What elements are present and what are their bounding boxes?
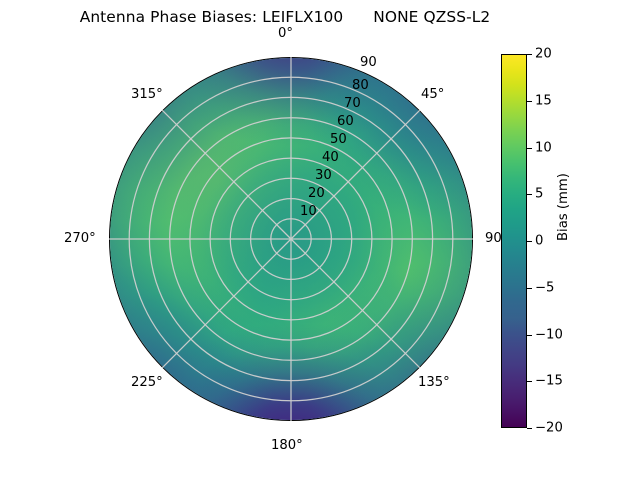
radial-tick-80: 80: [352, 78, 369, 93]
colorbar-tick-mark: [527, 381, 532, 382]
page-title: Antenna Phase Biases: LEIFLX100 NONE QZS…: [0, 8, 570, 26]
angular-tick-45: 45°: [421, 87, 444, 102]
angular-tick-90: 90: [485, 231, 502, 246]
colorbar-tick-mark: [527, 241, 532, 242]
colorbar-tick-label-5: 5: [535, 187, 543, 202]
colorbar-tick-mark: [527, 194, 532, 195]
radial-tick-70: 70: [344, 96, 361, 111]
radial-tick-20: 20: [308, 186, 325, 201]
colorbar-tick-label-m5: −5: [535, 280, 554, 295]
colorbar-tick-label-m20: −20: [535, 421, 563, 436]
radial-tick-50: 50: [330, 132, 347, 147]
colorbar-tick-mark: [527, 428, 532, 429]
colorbar-tick-label-15: 15: [535, 93, 552, 108]
figure-canvas: Antenna Phase Biases: LEIFLX100 NONE QZS…: [0, 0, 640, 480]
colorbar-axis-label: Bias (mm): [556, 173, 571, 241]
angular-tick-225: 225°: [131, 375, 163, 390]
colorbar-tick-label-10: 10: [535, 140, 552, 155]
colorbar-tick-label-m15: −15: [535, 374, 563, 389]
colorbar-tick-mark: [527, 101, 532, 102]
colorbar-tick-label-20: 20: [535, 47, 552, 62]
colorbar-tick-label-0: 0: [535, 234, 543, 249]
polar-grid: [109, 57, 473, 421]
radial-tick-90: 90: [360, 55, 377, 70]
colorbar-tick-mark: [527, 148, 532, 149]
angular-tick-180: 180°: [271, 438, 303, 453]
radial-tick-10: 10: [300, 204, 317, 219]
angular-tick-270: 270°: [64, 231, 96, 246]
radial-tick-60: 60: [337, 114, 354, 129]
radial-tick-30: 30: [315, 168, 332, 183]
radial-tick-40: 40: [322, 150, 339, 165]
polar-axes[interactable]: [109, 57, 473, 421]
angular-tick-0: 0°: [278, 26, 293, 41]
colorbar-tick-mark: [527, 288, 532, 289]
colorbar-tick-mark: [527, 54, 532, 55]
colorbar-tick-mark: [527, 335, 532, 336]
colorbar-gradient: [501, 54, 527, 428]
colorbar[interactable]: 20 15 10 5 0 −5 −10 −15 −20: [501, 54, 527, 428]
angular-tick-315: 315°: [131, 87, 163, 102]
colorbar-tick-label-m10: −10: [535, 327, 563, 342]
angular-tick-135: 135°: [418, 375, 450, 390]
